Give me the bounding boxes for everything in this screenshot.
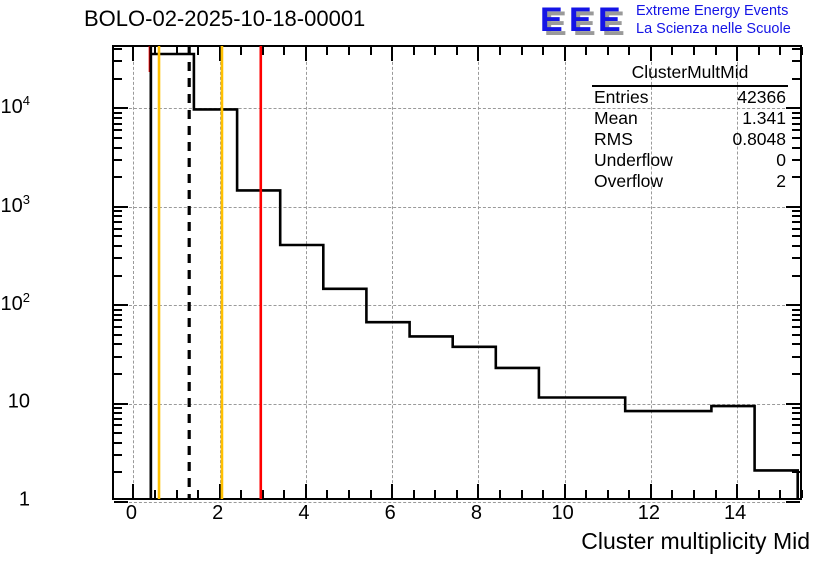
x-tick-minor — [521, 490, 523, 498]
x-tick-minor — [607, 490, 609, 498]
x-tick-minor — [240, 490, 242, 498]
y-tick-minor — [792, 176, 800, 178]
y-gridline — [114, 305, 800, 306]
x-tick-minor — [283, 47, 285, 55]
x-tick-major — [564, 484, 566, 498]
stats-row-value: 42366 — [737, 87, 786, 108]
x-tick-major — [219, 47, 221, 61]
y-tick-minor — [114, 454, 122, 456]
stats-row-key: Overflow — [594, 171, 663, 192]
y-tick-minor — [114, 471, 122, 473]
y-tick-minor — [792, 319, 800, 321]
y-tick-major — [786, 304, 800, 306]
x-tick-minor — [521, 47, 523, 55]
y-tick-minor — [792, 356, 800, 358]
x-tick-major — [477, 484, 479, 498]
x-tick-minor — [779, 490, 781, 498]
x-tick-label: 2 — [212, 502, 223, 525]
x-tick-minor — [758, 490, 760, 498]
x-tick-label: 4 — [298, 502, 309, 525]
y-tick-minor — [792, 424, 800, 426]
x-tick-major — [650, 484, 652, 498]
y-tick-minor — [114, 412, 122, 414]
x-tick-minor — [197, 47, 199, 55]
y-tick-minor — [114, 334, 122, 336]
y-tick-minor — [792, 221, 800, 223]
x-tick-major — [650, 47, 652, 61]
x-tick-minor — [542, 47, 544, 55]
y-tick-minor — [114, 257, 122, 259]
x-tick-minor — [628, 490, 630, 498]
y-tick-minor — [792, 215, 800, 217]
y-gridline — [114, 404, 800, 405]
x-tick-minor — [585, 47, 587, 55]
y-tick-minor — [114, 159, 122, 161]
y-tick-minor — [792, 147, 800, 149]
y-tick-minor — [114, 275, 122, 277]
x-gridline — [565, 47, 566, 498]
stats-row-value: 0.8048 — [732, 129, 786, 150]
y-tick-minor — [114, 432, 122, 434]
y-tick-minor — [792, 343, 800, 345]
y-tick-minor — [792, 245, 800, 247]
y-tick-label: 10 — [0, 390, 30, 413]
y-tick-minor — [792, 78, 800, 80]
y-tick-minor — [792, 442, 800, 444]
x-tick-minor — [499, 47, 501, 55]
eee-logo-line2: La Scienza nelle Scuole — [636, 20, 791, 38]
y-tick-minor — [114, 147, 122, 149]
y-tick-minor — [792, 334, 800, 336]
x-tick-minor — [348, 490, 350, 498]
y-tick-minor — [792, 275, 800, 277]
x-tick-minor — [370, 490, 372, 498]
y-tick-major — [786, 403, 800, 405]
x-tick-major — [305, 47, 307, 61]
y-tick-minor — [792, 159, 800, 161]
x-tick-minor — [693, 490, 695, 498]
y-tick-major — [786, 206, 800, 208]
y-tick-minor — [114, 112, 122, 114]
y-tick-label: 103 — [0, 192, 30, 218]
eee-logo-text: Extreme Energy Events La Scienza nelle S… — [636, 2, 791, 38]
y-tick-minor — [792, 309, 800, 311]
x-tick-major — [477, 47, 479, 61]
y-tick-minor — [792, 235, 800, 237]
y-tick-minor — [114, 137, 122, 139]
eee-letter-1: E — [540, 5, 566, 37]
x-tick-minor — [240, 47, 242, 55]
x-tick-minor — [779, 47, 781, 55]
x-tick-minor — [801, 47, 803, 55]
y-tick-label: 1 — [0, 489, 30, 512]
y-tick-minor — [114, 319, 122, 321]
page-title: BOLO-02-2025-10-18-00001 — [84, 6, 365, 32]
eee-logo: E E E E E E Extreme Energy Events La Sci… — [540, 2, 832, 40]
y-tick-major — [786, 107, 800, 109]
x-tick-minor — [262, 47, 264, 55]
stats-row: Entries42366 — [592, 87, 788, 108]
stats-row-key: RMS — [594, 129, 633, 150]
y-tick-major — [114, 206, 128, 208]
x-tick-major — [219, 484, 221, 498]
y-tick-minor — [792, 257, 800, 259]
x-tick-minor — [499, 490, 501, 498]
y-tick-minor — [114, 442, 122, 444]
eee-letter-3: E — [598, 5, 624, 37]
x-tick-minor — [801, 490, 803, 498]
y-gridline — [114, 207, 800, 208]
y-tick-minor — [114, 373, 122, 375]
stats-row: Underflow0 — [592, 150, 788, 171]
y-tick-minor — [792, 412, 800, 414]
y-tick-minor — [114, 215, 122, 217]
x-tick-label: 12 — [638, 502, 660, 525]
x-gridline — [392, 47, 393, 498]
x-tick-minor — [283, 490, 285, 498]
y-tick-minor — [792, 432, 800, 434]
x-gridline — [306, 47, 307, 498]
x-axis-title: Cluster multiplicity Mid — [581, 528, 810, 555]
x-tick-label: 14 — [724, 502, 746, 525]
y-tick-minor — [114, 343, 122, 345]
x-tick-minor — [434, 490, 436, 498]
x-tick-minor — [456, 490, 458, 498]
x-tick-minor — [758, 47, 760, 55]
x-tick-minor — [348, 47, 350, 55]
y-tick-minor — [114, 326, 122, 328]
x-tick-major — [132, 484, 134, 498]
stats-row-key: Mean — [594, 108, 638, 129]
eee-letter-2: E — [569, 5, 595, 37]
x-tick-minor — [154, 490, 156, 498]
stats-row-key: Entries — [594, 87, 648, 108]
y-tick-minor — [792, 60, 800, 62]
stats-row: RMS0.8048 — [592, 129, 788, 150]
y-tick-major — [114, 107, 128, 109]
stats-box-title: ClusterMultMid — [592, 62, 788, 87]
x-tick-minor — [671, 47, 673, 55]
y-tick-minor — [114, 356, 122, 358]
x-tick-label: 10 — [552, 502, 574, 525]
y-tick-minor — [792, 117, 800, 119]
x-tick-minor — [585, 490, 587, 498]
y-tick-minor — [114, 407, 122, 409]
y-tick-minor — [792, 326, 800, 328]
y-tick-major — [786, 501, 800, 503]
x-gridline — [133, 47, 134, 498]
y-tick-minor — [114, 129, 122, 131]
y-tick-minor — [792, 137, 800, 139]
stats-row: Mean1.341 — [592, 108, 788, 129]
x-tick-minor — [370, 47, 372, 55]
x-tick-label: 8 — [471, 502, 482, 525]
stats-box: ClusterMultMid Entries42366Mean1.341RMS0… — [592, 62, 788, 192]
y-tick-minor — [114, 221, 122, 223]
x-tick-major — [391, 484, 393, 498]
eee-logo-letters: E E E E E E — [540, 4, 630, 38]
x-tick-minor — [197, 490, 199, 498]
x-tick-minor — [413, 47, 415, 55]
y-tick-minor — [114, 235, 122, 237]
x-tick-major — [736, 484, 738, 498]
x-tick-major — [132, 47, 134, 61]
x-tick-major — [564, 47, 566, 61]
x-tick-minor — [154, 47, 156, 55]
x-tick-minor — [176, 490, 178, 498]
x-tick-minor — [671, 490, 673, 498]
y-tick-minor — [114, 123, 122, 125]
x-tick-minor — [607, 47, 609, 55]
x-tick-minor — [413, 490, 415, 498]
x-tick-minor — [715, 47, 717, 55]
stats-box-rows: Entries42366Mean1.341RMS0.8048Underflow0… — [592, 87, 788, 192]
y-tick-minor — [792, 471, 800, 473]
x-tick-major — [391, 47, 393, 61]
root-canvas: BOLO-02-2025-10-18-00001 E E E E E E Ext… — [0, 0, 836, 572]
x-tick-minor — [715, 490, 717, 498]
y-tick-major — [114, 304, 128, 306]
y-tick-minor — [792, 418, 800, 420]
y-tick-minor — [114, 60, 122, 62]
y-tick-minor — [792, 373, 800, 375]
x-tick-major — [305, 484, 307, 498]
y-tick-minor — [114, 48, 122, 50]
x-tick-minor — [628, 47, 630, 55]
eee-logo-line1: Extreme Energy Events — [636, 2, 791, 20]
y-tick-minor — [792, 454, 800, 456]
y-tick-minor — [114, 314, 122, 316]
y-tick-minor — [792, 123, 800, 125]
x-tick-minor — [434, 47, 436, 55]
y-tick-minor — [114, 176, 122, 178]
stats-row-value: 1.341 — [742, 108, 786, 129]
stats-row-value: 2 — [776, 171, 786, 192]
y-tick-minor — [114, 245, 122, 247]
stats-row-value: 0 — [776, 150, 786, 171]
x-tick-minor — [326, 47, 328, 55]
y-tick-minor — [792, 407, 800, 409]
stats-row: Overflow2 — [592, 171, 788, 192]
x-tick-label: 0 — [126, 502, 137, 525]
x-tick-major — [736, 47, 738, 61]
x-tick-label: 6 — [385, 502, 396, 525]
y-tick-minor — [114, 228, 122, 230]
y-tick-minor — [114, 418, 122, 420]
x-gridline — [220, 47, 221, 498]
x-tick-minor — [262, 490, 264, 498]
y-tick-minor — [792, 112, 800, 114]
x-tick-minor — [176, 47, 178, 55]
y-tick-minor — [114, 78, 122, 80]
y-tick-minor — [792, 48, 800, 50]
x-tick-minor — [456, 47, 458, 55]
x-tick-minor — [542, 490, 544, 498]
y-tick-minor — [114, 424, 122, 426]
y-tick-label: 102 — [0, 290, 30, 316]
y-tick-major — [114, 403, 128, 405]
x-tick-minor — [326, 490, 328, 498]
y-tick-minor — [114, 309, 122, 311]
y-tick-minor — [792, 228, 800, 230]
y-tick-minor — [792, 210, 800, 212]
stats-row-key: Underflow — [594, 150, 673, 171]
y-tick-minor — [114, 210, 122, 212]
y-tick-minor — [792, 314, 800, 316]
y-tick-minor — [792, 129, 800, 131]
x-tick-minor — [693, 47, 695, 55]
y-tick-label: 104 — [0, 94, 30, 120]
x-gridline — [478, 47, 479, 498]
y-tick-minor — [114, 117, 122, 119]
